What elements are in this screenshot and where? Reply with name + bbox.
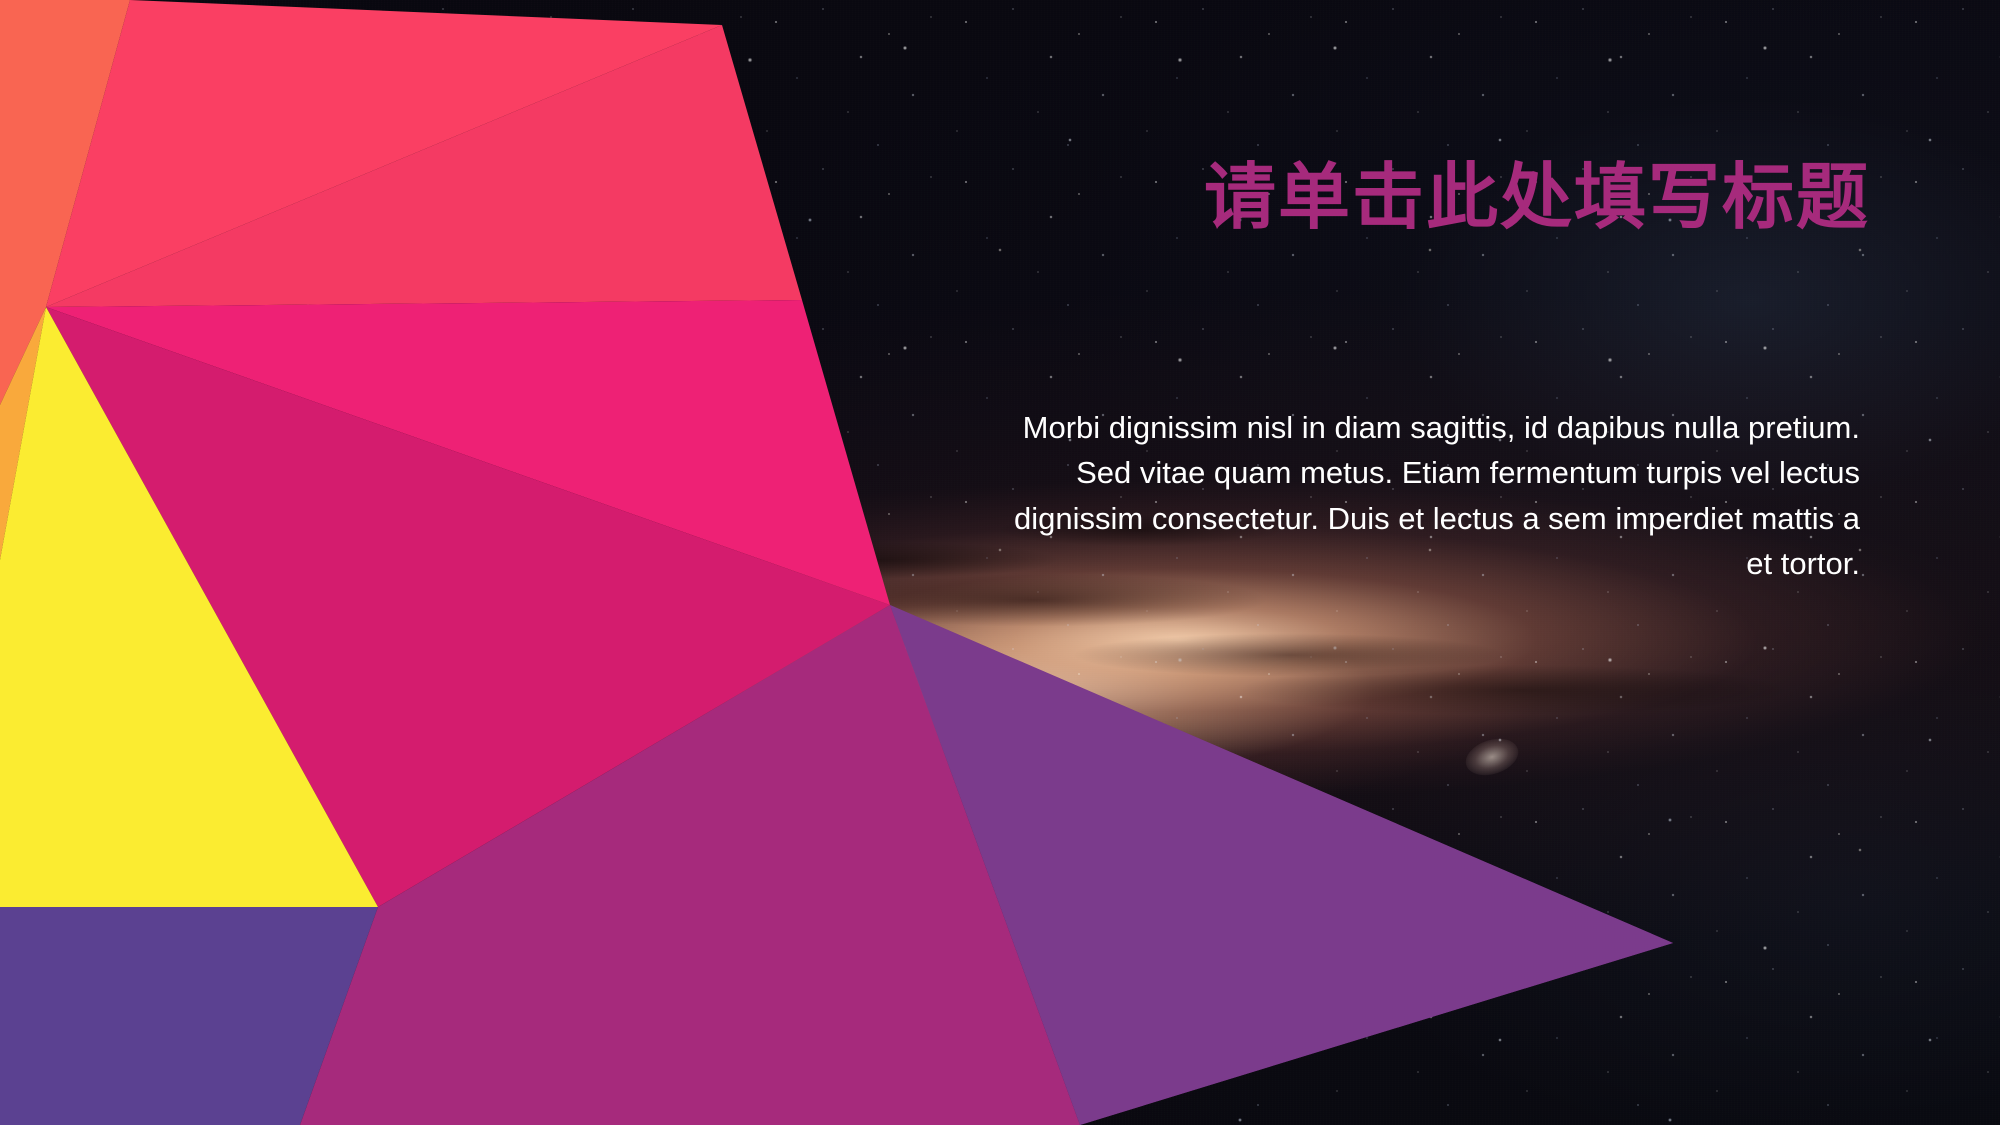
presentation-slide: 请单击此处填写标题 Morbi dignissim nisl in diam s… [0, 0, 2000, 1125]
slide-title[interactable]: 请单击此处填写标题 [1000, 160, 1870, 238]
slide-body-text[interactable]: Morbi dignissim nisl in diam sagittis, i… [1000, 405, 1860, 586]
